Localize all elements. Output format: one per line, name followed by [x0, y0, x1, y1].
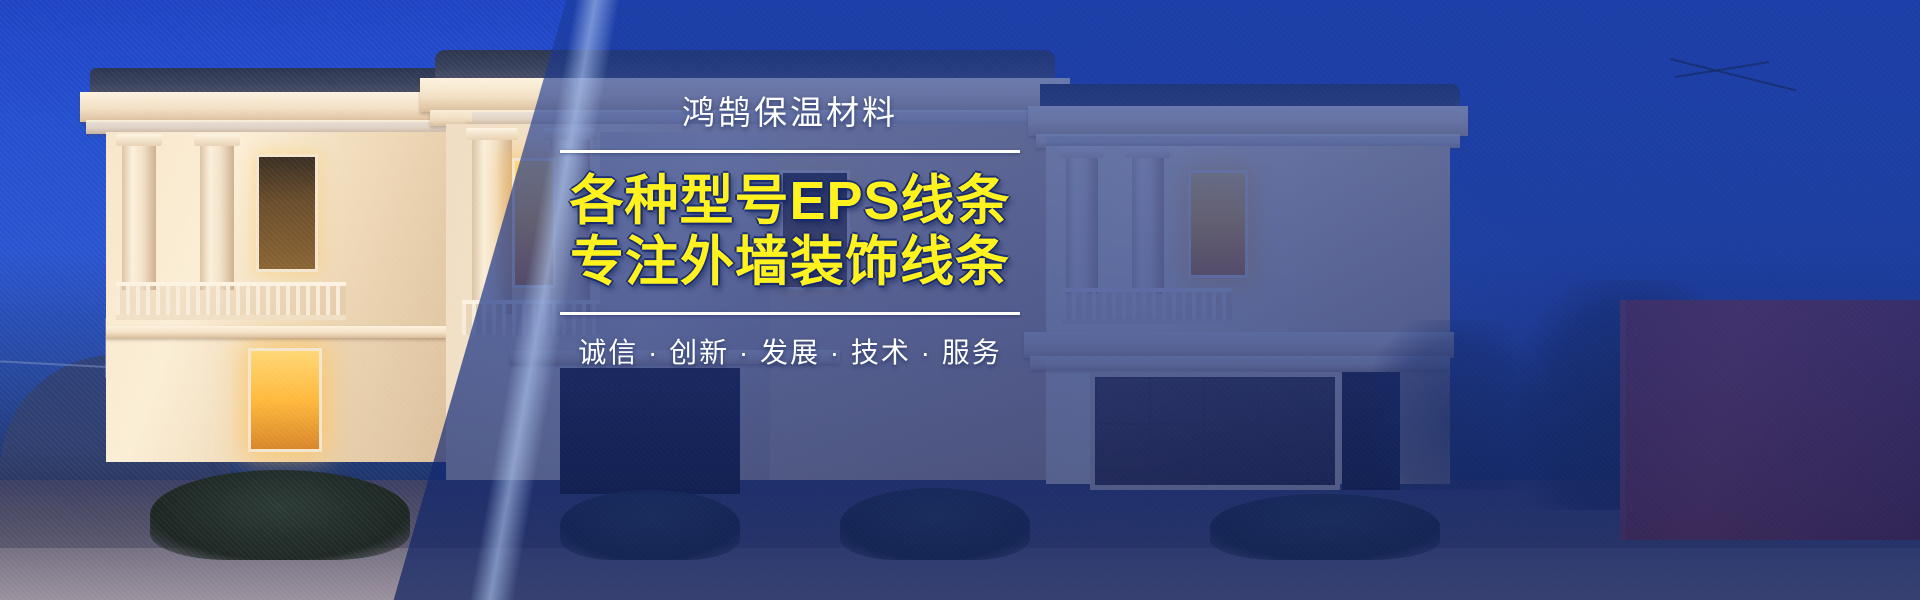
- left-wing-balustrade: [116, 282, 346, 320]
- center-column-cap-1: [466, 128, 518, 140]
- right-wing-column-2: [1132, 152, 1164, 294]
- headline-line-2: 专注外墙装饰线条: [560, 232, 1020, 292]
- left-wing-column-1: [122, 140, 156, 290]
- right-wing-column-1: [1066, 152, 1098, 294]
- center-column-1: [472, 134, 512, 314]
- left-wing-column-cap-2: [194, 134, 240, 146]
- banner-copy-block: 鸿鹄保温材料 各种型号EPS线条 专注外墙装饰线条 诚信 · 创新 · 发展 ·…: [560, 92, 1020, 371]
- center-roof: [435, 50, 1055, 80]
- right-wing-column-cap-1: [1060, 146, 1104, 158]
- left-wing-roof: [90, 68, 460, 94]
- hedge-center-left: [560, 490, 740, 560]
- right-wing-cornice: [1028, 106, 1468, 136]
- right-wing-balustrade: [1062, 288, 1232, 324]
- left-wing-column-cap-1: [116, 134, 162, 146]
- hedge-right: [1210, 494, 1440, 560]
- garage-door: [1090, 372, 1340, 490]
- tagline: 诚信 · 创新 · 发展 · 技术 · 服务: [560, 331, 1020, 371]
- hero-banner: 鸿鹄保温材料 各种型号EPS线条 专注外墙装饰线条 诚信 · 创新 · 发展 ·…: [0, 0, 1920, 600]
- red-container: [1620, 300, 1920, 540]
- right-wing-column-cap-2: [1126, 146, 1170, 158]
- right-wing-window-upper: [1188, 170, 1248, 278]
- tree-right-2: [1370, 320, 1540, 490]
- divider-top: [560, 150, 1020, 153]
- hedge-left: [150, 470, 410, 560]
- left-wing-column-2: [200, 140, 234, 290]
- hedge-center-right: [840, 488, 1030, 560]
- left-wing-band: [106, 326, 446, 338]
- left-wing-cornice: [80, 92, 472, 122]
- left-wing-window-lower: [248, 348, 322, 452]
- divider-bottom: [560, 312, 1020, 315]
- entrance-door: [560, 368, 740, 494]
- headline-group: 各种型号EPS线条 专注外墙装饰线条: [560, 171, 1020, 292]
- left-wing-window-upper: [256, 154, 318, 272]
- center-window-lit: [512, 158, 556, 288]
- headline-line-1: 各种型号EPS线条: [560, 171, 1020, 231]
- brand-eyebrow: 鸿鹄保温材料: [560, 92, 1020, 133]
